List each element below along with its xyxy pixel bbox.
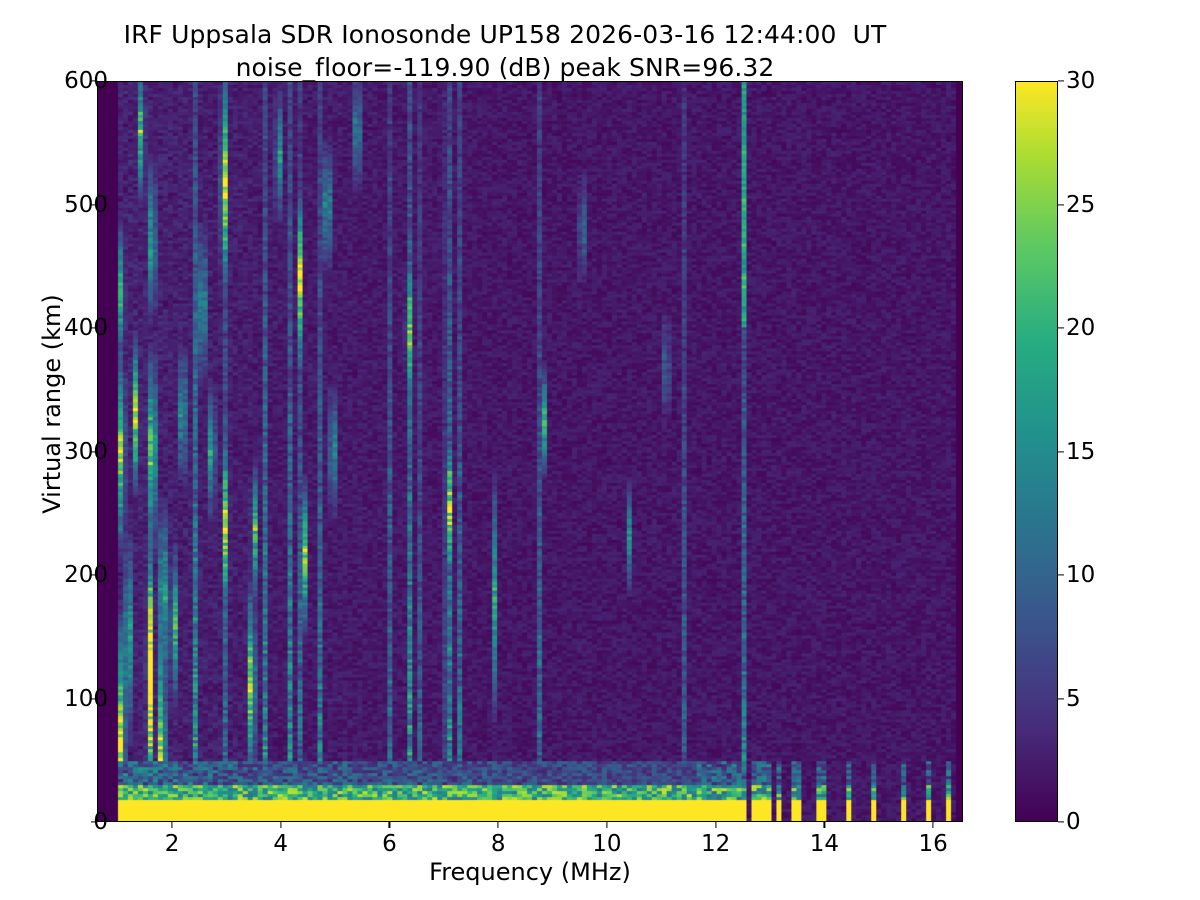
colorbar-tick-label-5: 5 bbox=[1066, 686, 1081, 712]
x-tick-label-14: 14 bbox=[810, 831, 839, 857]
y-tick-label-400: 400 bbox=[64, 315, 108, 341]
snr-heatmap bbox=[98, 82, 962, 821]
y-tick-label-200: 200 bbox=[64, 562, 108, 588]
y-tick-mark bbox=[91, 80, 97, 81]
y-tick-label-500: 500 bbox=[64, 192, 108, 218]
y-axis-label: Virtual range (km) bbox=[38, 194, 66, 614]
x-tick-mark bbox=[171, 822, 172, 828]
x-tick-label-6: 6 bbox=[382, 831, 397, 857]
colorbar-tick-label-25: 25 bbox=[1066, 192, 1095, 218]
colorbar-tick-mark bbox=[1058, 698, 1064, 699]
y-tick-mark bbox=[91, 327, 97, 328]
x-tick-mark bbox=[715, 822, 716, 828]
x-tick-mark bbox=[280, 822, 281, 828]
y-tick-label-100: 100 bbox=[64, 686, 108, 712]
figure-title: IRF Uppsala SDR Ionosonde UP158 2026-03-… bbox=[0, 18, 1010, 84]
colorbar-tick-label-10: 10 bbox=[1066, 562, 1095, 588]
y-tick-mark bbox=[91, 574, 97, 575]
y-tick-mark bbox=[91, 821, 97, 822]
x-tick-mark bbox=[389, 822, 390, 828]
y-tick-mark bbox=[91, 451, 97, 452]
colorbar-tick-mark bbox=[1058, 80, 1064, 81]
x-tick-mark bbox=[606, 822, 607, 828]
colorbar-tick-mark bbox=[1058, 821, 1064, 822]
x-axis-label: Frequency (MHz) bbox=[97, 858, 963, 886]
x-tick-mark bbox=[933, 822, 934, 828]
x-tick-label-2: 2 bbox=[165, 831, 180, 857]
x-tick-mark bbox=[824, 822, 825, 828]
colorbar-tick-label-15: 15 bbox=[1066, 439, 1095, 465]
colorbar-tick-mark bbox=[1058, 451, 1064, 452]
y-tick-label-300: 300 bbox=[64, 439, 108, 465]
y-tick-mark bbox=[91, 204, 97, 205]
x-tick-mark bbox=[498, 822, 499, 828]
title-line-2: noise_floor=-119.90 (dB) peak SNR=96.32 bbox=[0, 51, 1010, 84]
colorbar-tick-label-20: 20 bbox=[1066, 315, 1095, 341]
x-tick-label-4: 4 bbox=[273, 831, 288, 857]
ionogram-plot-area[interactable] bbox=[97, 81, 963, 822]
colorbar-tick-label-0: 0 bbox=[1066, 809, 1081, 835]
colorbar bbox=[1015, 81, 1058, 822]
colorbar-gradient bbox=[1016, 82, 1057, 821]
colorbar-tick-mark bbox=[1058, 327, 1064, 328]
x-tick-label-16: 16 bbox=[918, 831, 947, 857]
colorbar-tick-mark bbox=[1058, 204, 1064, 205]
y-tick-label-600: 600 bbox=[64, 68, 108, 94]
colorbar-tick-mark bbox=[1058, 574, 1064, 575]
x-tick-label-10: 10 bbox=[592, 831, 621, 857]
title-line-1: IRF Uppsala SDR Ionosonde UP158 2026-03-… bbox=[0, 18, 1010, 51]
colorbar-tick-label-30: 30 bbox=[1066, 68, 1095, 94]
x-tick-label-8: 8 bbox=[491, 831, 506, 857]
ionogram-figure: IRF Uppsala SDR Ionosonde UP158 2026-03-… bbox=[0, 0, 1200, 900]
x-tick-label-12: 12 bbox=[701, 831, 730, 857]
y-tick-mark bbox=[91, 698, 97, 699]
